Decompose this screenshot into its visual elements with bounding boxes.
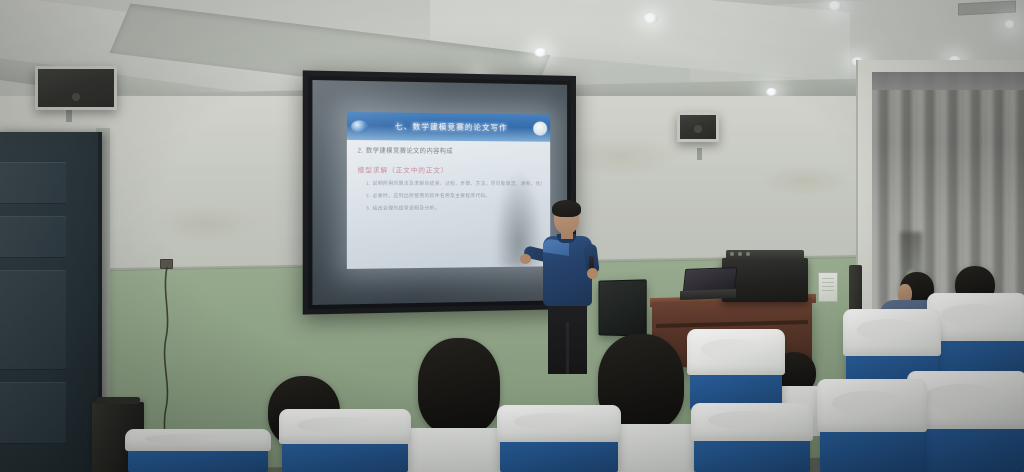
audience-chair[interactable] <box>282 416 408 472</box>
av-knob <box>738 252 742 256</box>
chair-cover <box>927 293 1024 341</box>
entrance-door[interactable] <box>0 132 102 472</box>
audience-chair[interactable] <box>128 436 268 472</box>
wall-notice <box>818 272 838 302</box>
audience-chair[interactable] <box>930 300 1024 378</box>
chair-cover <box>817 379 927 432</box>
slide-title: 七、数学建模竞赛的论文写作 <box>368 121 533 134</box>
audience-chair[interactable] <box>500 412 618 472</box>
av-knob <box>730 252 734 256</box>
speaker-bracket <box>66 108 72 122</box>
audience-chair[interactable] <box>690 336 782 410</box>
ceiling-downlight <box>766 88 777 96</box>
ceiling-downlight <box>828 1 842 11</box>
audience-chair[interactable] <box>694 410 810 472</box>
audience-chair[interactable] <box>820 386 924 472</box>
lecture-hall-photo: 七、数学建模竞赛的论文写作 2. 数学建模竞赛论文的内容构成 模型求解（正文中的… <box>0 0 1024 472</box>
speaker-bracket <box>697 148 702 160</box>
door-panel <box>0 270 66 370</box>
wall-smudge <box>760 166 850 196</box>
presenter-hair <box>552 200 581 217</box>
circle-logo-icon <box>351 120 368 133</box>
audience-chair[interactable] <box>910 378 1024 472</box>
wall-smudge <box>150 206 260 242</box>
window-curtain[interactable] <box>872 72 1024 322</box>
door-panel <box>0 382 66 444</box>
slide-titlebar: 七、数学建模竞赛的论文写作 <box>347 112 550 142</box>
presenter-right-hand <box>587 268 598 279</box>
ceiling-downlight <box>1004 20 1016 29</box>
wall-smudge <box>560 136 680 176</box>
slide-heading: 2. 数学建模竞赛论文的内容构成 <box>358 145 542 156</box>
door-panel <box>0 162 66 204</box>
ceiling-downlight <box>534 48 547 57</box>
chair-cover <box>279 409 411 444</box>
av-knob-group <box>730 252 750 256</box>
projected-slide: 七、数学建模竞赛的论文写作 2. 数学建模竞赛论文的内容构成 模型求解（正文中的… <box>347 112 550 269</box>
ceiling-downlight <box>643 13 658 24</box>
chair-cover <box>843 309 941 356</box>
av-knob <box>746 252 750 256</box>
presenter <box>522 196 618 374</box>
wall-speaker <box>35 66 117 110</box>
university-seal-icon <box>533 121 547 135</box>
curtain-fabric <box>872 72 1024 322</box>
seated-attendee <box>418 338 500 434</box>
chair-cover <box>497 405 621 442</box>
chair-cover <box>125 429 271 451</box>
presenter-left-hand <box>520 254 531 264</box>
chair-cover <box>687 329 785 375</box>
chair-cover <box>691 403 813 441</box>
presenter-leg-seam <box>566 322 569 374</box>
wall-speaker <box>677 112 719 142</box>
door-panel <box>0 216 66 258</box>
curtain-rail <box>872 72 1024 90</box>
